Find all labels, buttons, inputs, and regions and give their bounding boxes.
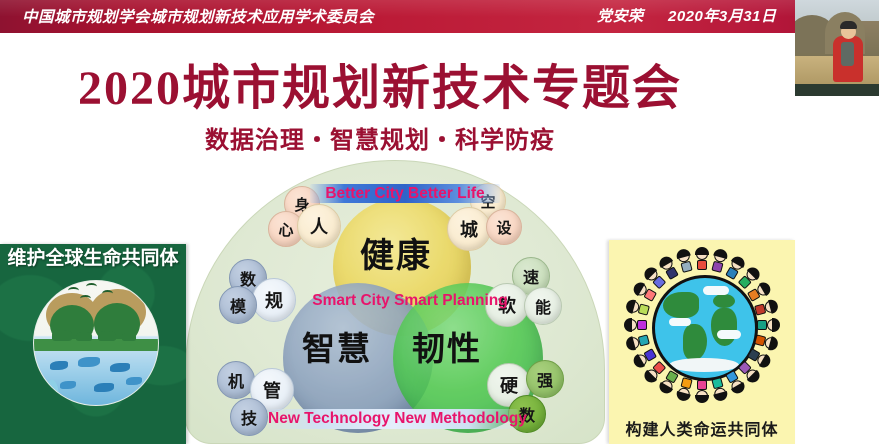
header-bar: 中国城市规划学会城市规划新技术应用学术委员会 党安荣 2020年3月31日 — [0, 0, 879, 33]
fish-icon-3 — [110, 363, 130, 372]
venn-label-wisdom: 智慧 — [302, 322, 372, 370]
banner-better-city: Better City Better Life — [310, 184, 500, 203]
bird-icon-1 — [68, 287, 79, 294]
bubble-qiang: 强 — [526, 360, 564, 398]
dolphin-icon — [78, 357, 100, 367]
speaker-torso — [841, 42, 854, 66]
child-hair — [772, 318, 780, 332]
fish-icon-4 — [60, 381, 76, 389]
ground-strip — [34, 339, 158, 351]
speaker-cap — [840, 21, 857, 29]
venn-label-resilience: 韧性 — [412, 322, 482, 370]
bird-icon-2 — [86, 283, 97, 290]
bird-icon-3 — [102, 290, 113, 297]
banner-new-technology: New Technology New Methodology — [268, 409, 518, 429]
venn-label-health: 健康 — [360, 228, 432, 277]
animal-small — [122, 333, 136, 341]
animal-elephant — [52, 330, 72, 341]
cloud-icon-2 — [669, 318, 691, 326]
page-subtitle: 数据治理・智慧规划・科学防疫 — [0, 120, 760, 155]
right-community-panel: 构建人类命运共同体 — [609, 240, 795, 444]
bubble-gui: 规 — [252, 278, 296, 322]
child-body — [638, 303, 650, 315]
bubble-cheng: 城 — [447, 207, 491, 251]
child-figure — [625, 317, 647, 333]
child-figure — [694, 248, 710, 270]
banner-smart-city: Smart City Smart Planning — [300, 291, 520, 310]
bubble-ren: 人 — [297, 204, 341, 248]
landmass-south-america — [683, 324, 707, 360]
child-hair — [695, 395, 709, 403]
animal-rhino — [98, 331, 116, 341]
ecology-globe-illustration — [33, 280, 159, 406]
animal-deer — [76, 332, 92, 341]
right-panel-caption: 构建人类命运共同体 — [609, 416, 795, 440]
fish-icon-1 — [50, 361, 68, 370]
child-hair — [695, 247, 709, 255]
landmass-north-america — [663, 292, 699, 318]
child-body — [697, 380, 707, 390]
header-date: 2020年3月31日 — [668, 5, 776, 26]
child-body — [711, 261, 723, 273]
header-author: 党安荣 — [597, 5, 644, 26]
header-organization: 中国城市规划学会城市规划新技术应用学术委员会 — [22, 5, 374, 27]
left-ecology-panel: 维护全球生命共同体 — [0, 244, 186, 444]
landmass-antarctic — [669, 358, 739, 372]
child-figure — [757, 317, 779, 333]
child-body — [680, 377, 692, 389]
fish-icon-5 — [94, 383, 114, 392]
bubble-neng: 能 — [524, 287, 562, 325]
child-body — [754, 303, 766, 315]
child-body — [697, 260, 707, 270]
bird-icon-4 — [80, 295, 91, 302]
child-body — [757, 320, 767, 330]
landmass-africa — [711, 308, 737, 346]
page-title: 2020城市规划新技术专题会 — [0, 48, 760, 118]
bubble-ji2: 技 — [230, 398, 268, 436]
child-body — [638, 334, 650, 346]
speaker-video-thumbnail[interactable] — [795, 0, 879, 96]
fish-icon-6 — [126, 377, 142, 385]
child-hair — [624, 318, 632, 332]
child-figure — [694, 380, 710, 402]
bubble-she: 设 — [486, 209, 522, 245]
child-body — [680, 261, 692, 273]
children-around-globe-illustration — [625, 248, 779, 402]
bubble-mo: 模 — [219, 286, 257, 324]
child-body — [637, 320, 647, 330]
landmass-europe — [713, 294, 735, 308]
cloud-icon-1 — [703, 286, 729, 295]
left-panel-title: 维护全球生命共同体 — [0, 244, 186, 270]
cloud-icon-3 — [717, 330, 741, 339]
